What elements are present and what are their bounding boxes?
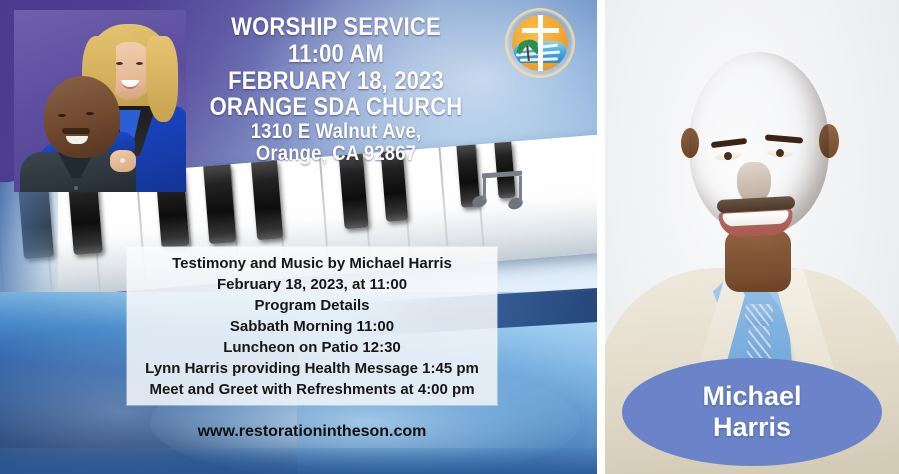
program-detail-line: Lynn Harris providing Health Message 1:4… (127, 358, 497, 379)
program-detail-line: Testimony and Music by Michael Harris (127, 253, 497, 274)
music-notes-icon (474, 170, 530, 214)
headline-line: FEBRUARY 18, 2023 (204, 68, 468, 95)
note-stem (519, 176, 522, 202)
website-url[interactable]: www.restorationintheson.com (127, 423, 497, 441)
program-detail-line: Luncheon on Patio 12:30 (127, 337, 497, 358)
woman-hair-strand (146, 36, 178, 122)
speaker-first-name: Michael (702, 381, 801, 412)
man-mustache (62, 128, 90, 134)
headline-line: ORANGE SDA CHURCH (204, 94, 468, 121)
headline-line: 11:00 AM (204, 41, 468, 68)
event-headline: WORSHIP SERVICE 11:00 AM FEBRUARY 18, 20… (186, 14, 486, 166)
pupil (724, 152, 733, 161)
teeth (722, 210, 789, 226)
woman-eye (116, 62, 123, 65)
chin-highlight (721, 232, 793, 254)
program-detail-line: Meet and Greet with Refreshments at 4:00… (127, 379, 497, 400)
church-logo-icon (505, 8, 575, 78)
program-details-box: Testimony and Music by Michael Harris Fe… (127, 247, 497, 405)
event-flyer-panel: WORSHIP SERVICE 11:00 AM FEBRUARY 18, 20… (0, 0, 597, 474)
headline-line: 1310 E Walnut Ave, (204, 121, 468, 143)
logo-cross-vertical (538, 15, 543, 71)
logo-cross-horizontal (522, 28, 559, 33)
shirt-button (74, 186, 78, 190)
flyer-poster: WORSHIP SERVICE 11:00 AM FEBRUARY 18, 20… (0, 0, 899, 474)
man-eye (86, 112, 94, 115)
headline-line: WORSHIP SERVICE (204, 14, 468, 41)
speaker-last-name: Harris (713, 412, 791, 443)
logo-disc (512, 15, 568, 71)
speaker-name-badge: Michael Harris (622, 358, 882, 466)
program-detail-line: Program Details (127, 295, 497, 316)
headline-line: Orange, CA 92867 (204, 143, 468, 165)
ring (120, 158, 125, 163)
couple-photo (14, 10, 186, 192)
note-beam (482, 171, 522, 179)
program-detail-line: February 18, 2023, at 11:00 (127, 274, 497, 295)
pupil (776, 149, 785, 158)
necktie-knot (745, 304, 773, 326)
bottom-band (0, 448, 597, 474)
woman-eye (136, 62, 143, 65)
program-detail-line: Sabbath Morning 11:00 (127, 316, 497, 337)
man-head (44, 76, 120, 158)
man-eye (58, 114, 66, 117)
